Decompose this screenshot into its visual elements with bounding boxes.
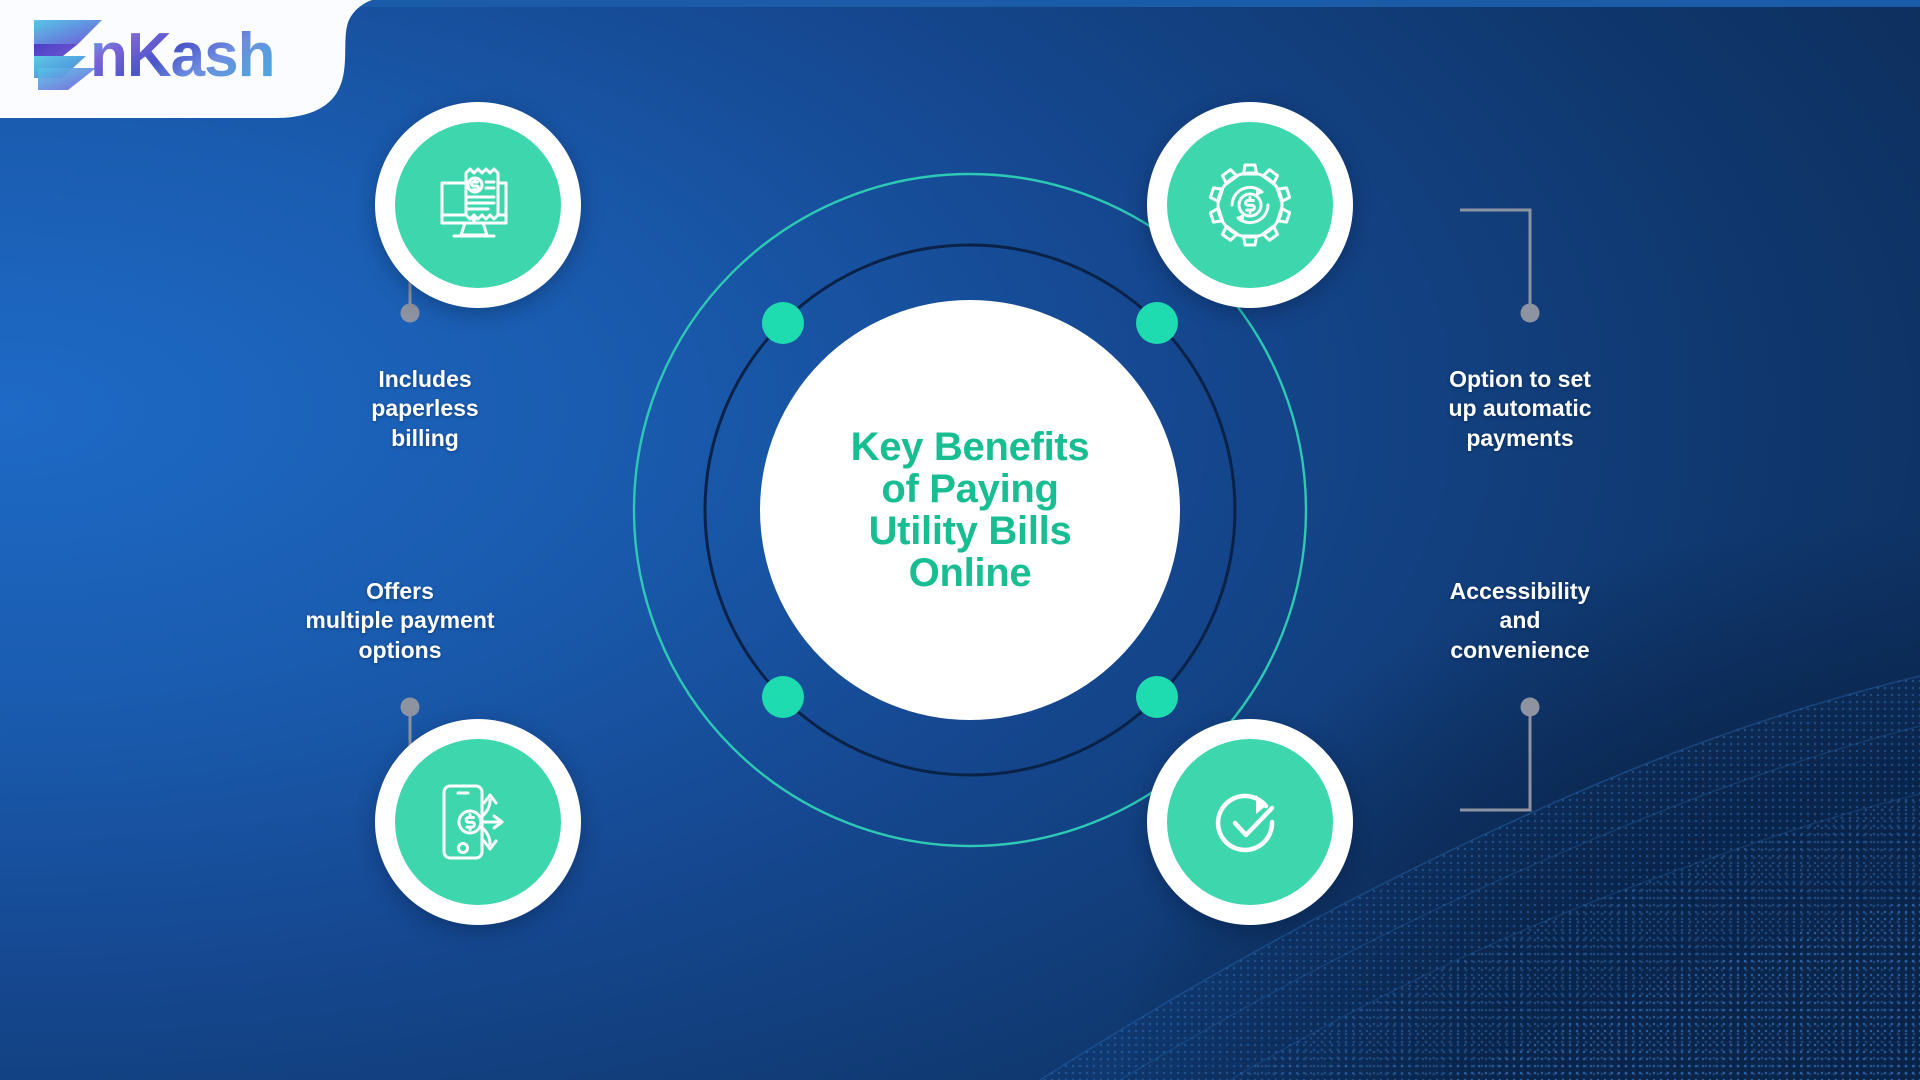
bubble-inner-circle — [395, 122, 561, 288]
connector-bottom-right — [1460, 710, 1530, 810]
connector-top-right — [1460, 210, 1530, 310]
brand-logo: nKash — [28, 14, 358, 106]
node-bubble-paperless-billing[interactable] — [375, 102, 581, 308]
node-bubble-accessibility-convenience[interactable] — [1147, 719, 1353, 925]
center-hub: Key Benefits of Paying Utility Bills Onl… — [760, 300, 1180, 720]
connector-dot-top-right — [1521, 304, 1540, 323]
brand-logo-tab[interactable]: nKash — [0, 0, 400, 128]
bubble-inner-circle — [1167, 739, 1333, 905]
connector-dot-bottom-right — [1521, 698, 1540, 717]
monitor-invoice-icon — [432, 159, 524, 251]
teal-dot-top-left — [762, 302, 804, 344]
connector-dot-bottom-left — [401, 698, 420, 717]
gear-recurring-dollar-icon — [1204, 159, 1296, 251]
center-title: Key Benefits of Paying Utility Bills Onl… — [825, 426, 1116, 594]
mobile-payment-arrows-icon — [432, 776, 524, 868]
teal-dot-bottom-right — [1136, 676, 1178, 718]
node-label-automatic-payments: Option to set up automatic payments — [1370, 365, 1670, 453]
node-label-paperless-billing: Includes paperless billing — [280, 365, 570, 453]
connector-dot-top-left — [401, 304, 420, 323]
node-label-accessibility-convenience: Accessibility and convenience — [1370, 577, 1670, 665]
check-refresh-icon — [1204, 776, 1296, 868]
node-bubble-multiple-payment-options[interactable] — [375, 719, 581, 925]
node-label-multiple-payment-options: Offers multiple payment options — [235, 577, 565, 665]
bubble-inner-circle — [1167, 122, 1333, 288]
svg-text:nKash: nKash — [90, 21, 274, 90]
teal-dot-top-right — [1136, 302, 1178, 344]
bubble-inner-circle — [395, 739, 561, 905]
benefits-diagram: Key Benefits of Paying Utility Bills Onl… — [380, 110, 1560, 910]
teal-dot-bottom-left — [762, 676, 804, 718]
node-bubble-automatic-payments[interactable] — [1147, 102, 1353, 308]
infographic-canvas: nKash — [0, 0, 1920, 1080]
